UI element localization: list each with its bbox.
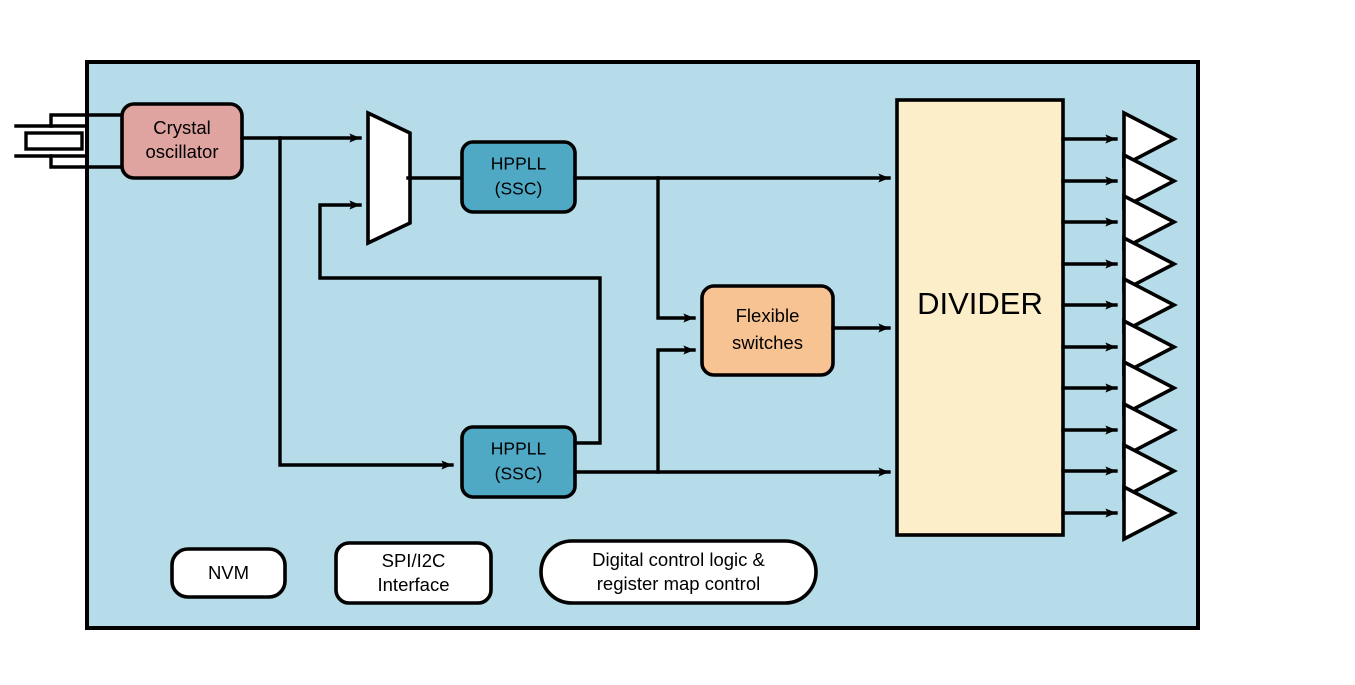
flexible-switches-label-line2: switches: [732, 332, 803, 353]
hppll-top-label-line1: HPPLL: [491, 154, 547, 174]
flexible-switches-label-line1: Flexible: [736, 305, 800, 326]
hppll-bottom-block[interactable]: HPPLL (SSC): [462, 427, 575, 497]
input-mux[interactable]: [368, 113, 410, 243]
hppll-bottom-label-line2: (SSC): [495, 464, 543, 484]
spi-i2c-interface-label-line2: Interface: [378, 574, 450, 595]
divider-label: DIVIDER: [917, 286, 1043, 321]
hppll-bottom-label-line1: HPPLL: [491, 439, 547, 459]
digital-control-logic-label-line1: Digital control logic &: [592, 549, 765, 570]
nvm-block[interactable]: NVM: [172, 549, 285, 597]
spi-i2c-interface-block[interactable]: SPI/I2C Interface: [336, 543, 491, 603]
diagram-canvas: Crystal oscillator HPPLL (SSC): [0, 0, 1355, 685]
block-diagram: Crystal oscillator HPPLL (SSC): [0, 0, 1355, 685]
digital-control-logic-label-line2: register map control: [597, 573, 760, 594]
nvm-label: NVM: [208, 562, 249, 583]
flexible-switches-block[interactable]: Flexible switches: [702, 286, 833, 375]
spi-i2c-interface-label-line1: SPI/I2C: [382, 550, 446, 571]
crystal-oscillator-label-line2: oscillator: [146, 141, 219, 162]
crystal-oscillator-label-line1: Crystal: [153, 117, 211, 138]
crystal-oscillator-block[interactable]: Crystal oscillator: [122, 104, 242, 178]
digital-control-logic-block[interactable]: Digital control logic & register map con…: [541, 541, 816, 603]
hppll-top-label-line2: (SSC): [495, 179, 543, 199]
divider-block[interactable]: DIVIDER: [897, 100, 1063, 535]
hppll-top-block[interactable]: HPPLL (SSC): [462, 142, 575, 212]
